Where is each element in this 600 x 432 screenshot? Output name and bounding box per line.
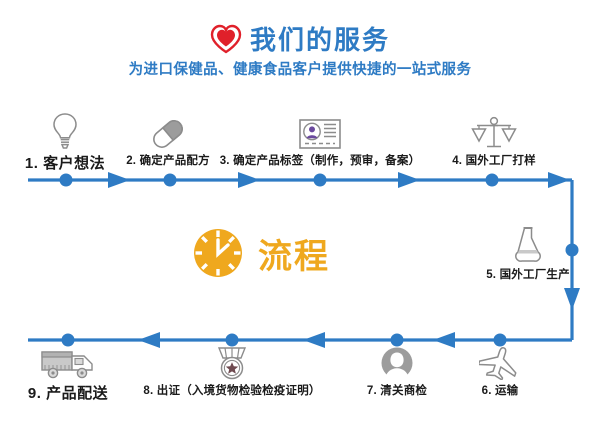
step-9-label: 9. 产品配送 (28, 382, 108, 403)
step-4-label: 4. 国外工厂打样 (452, 152, 536, 168)
step-1[interactable]: 1. 客户想法 (10, 112, 120, 173)
capsule-pill-icon (149, 118, 187, 150)
id-card-icon (298, 118, 342, 150)
step-5[interactable]: 5. 国外工厂生产 (473, 226, 583, 282)
step-8-label: 8. 出证（入境货物检验检疫证明） (143, 382, 320, 398)
heart-icon (210, 24, 242, 54)
delivery-truck-icon (40, 346, 96, 380)
step-2[interactable]: 2. 确定产品配方 (113, 118, 223, 168)
step-8[interactable]: 8. 出证（入境货物检验检疫证明） (132, 346, 332, 398)
timeline-dot-group-top (60, 174, 499, 187)
lightbulb-icon (50, 112, 80, 150)
timeline-dot-group-bottom (62, 334, 507, 347)
flowchart-canvas: 我们的服务 为进口保健品、健康食品客户提供快捷的一站式服务 (0, 0, 600, 432)
balance-scales-icon (471, 116, 517, 150)
airplane-icon (479, 346, 521, 380)
step-1-label: 1. 客户想法 (25, 152, 105, 173)
step-4[interactable]: 4. 国外工厂打样 (439, 116, 549, 168)
step-7[interactable]: 7. 清关商检 (347, 346, 447, 398)
center-label: 流程 (258, 229, 330, 278)
step-3[interactable]: 3. 确定产品标签（制作，预审，备案） (220, 118, 420, 168)
page-title-row: 我们的服务 (0, 20, 600, 57)
step-7-label: 7. 清关商检 (367, 382, 427, 398)
flask-bottle-icon (513, 226, 543, 264)
step-6-label: 6. 运输 (482, 382, 519, 398)
clock-icon (190, 225, 246, 281)
step-2-label: 2. 确定产品配方 (126, 152, 210, 168)
award-medal-icon (213, 346, 251, 380)
step-3-label: 3. 确定产品标签（制作，预审，备案） (220, 152, 421, 168)
step-6[interactable]: 6. 运输 (450, 346, 550, 398)
step-5-label: 5. 国外工厂生产 (486, 266, 570, 282)
page-title: 我们的服务 (250, 20, 390, 57)
arrow-right-group (108, 172, 570, 188)
page-subtitle: 为进口保健品、健康食品客户提供快捷的一站式服务 (0, 58, 600, 79)
step-9[interactable]: 9. 产品配送 (13, 346, 123, 403)
person-avatar-icon (380, 346, 414, 380)
center-brand: 流程 (190, 225, 330, 281)
